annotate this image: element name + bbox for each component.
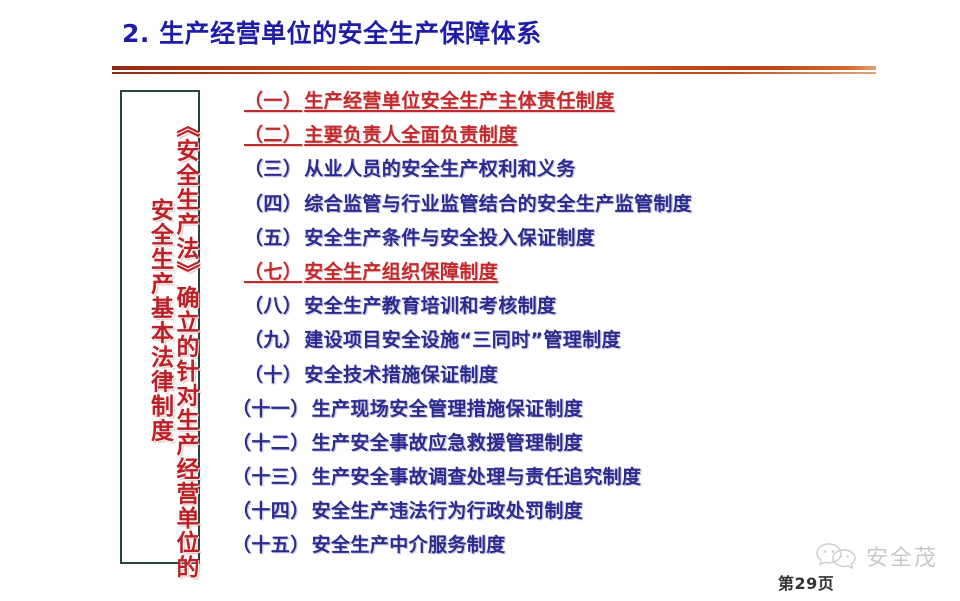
slide-canvas: 2. 生产经营单位的安全生产保障体系 《安全生产法》确立的针对生产经营单位的 安… (0, 0, 960, 601)
list-item[interactable]: （五）安全生产条件与安全投入保证制度 (232, 221, 872, 255)
list-item-number: （四） (244, 193, 302, 215)
list-item-number: （十二） (232, 432, 310, 454)
list-item[interactable]: （一）生产经营单位安全生产主体责任制度 (232, 84, 872, 118)
page-title: 2. 生产经营单位的安全生产保障体系 (122, 14, 542, 50)
list-item-label: 安全生产组织保障制度 (304, 261, 498, 283)
list-item[interactable]: （七）安全生产组织保障制度 (232, 255, 872, 289)
list-item[interactable]: （十五）安全生产中介服务制度 (232, 528, 872, 562)
list-item-number: （八） (244, 295, 302, 317)
vertical-label-line-2: 安全生产基本法律制度 (147, 198, 170, 443)
list-item[interactable]: （八）安全生产教育培训和考核制度 (232, 289, 872, 323)
list-item-label: 主要负责人全面负责制度 (304, 124, 517, 146)
list-item[interactable]: （十二）生产安全事故应急救援管理制度 (232, 426, 872, 460)
institution-list: （一）生产经营单位安全生产主体责任制度（二）主要负责人全面负责制度（三）从业人员… (232, 84, 872, 563)
list-item-number: （十五） (232, 534, 310, 556)
list-item-label: 安全生产教育培训和考核制度 (304, 295, 556, 317)
list-item[interactable]: （十四）安全生产违法行为行政处罚制度 (232, 494, 872, 528)
list-item-label: 生产经营单位安全生产主体责任制度 (304, 90, 614, 112)
vertical-label-line-1: 《安全生产法》确立的针对生产经营单位的 (173, 114, 196, 580)
list-item[interactable]: （十一）生产现场安全管理措施保证制度 (232, 392, 872, 426)
list-item-label: 综合监管与行业监管结合的安全生产监管制度 (304, 193, 692, 215)
list-item[interactable]: （二）主要负责人全面负责制度 (232, 118, 872, 152)
list-item-number: （十四） (232, 500, 310, 522)
list-item-label: 生产安全事故调查处理与责任追究制度 (312, 466, 642, 488)
list-item-label: 安全生产中介服务制度 (312, 534, 506, 556)
watermark-text: 安全茂 (866, 540, 938, 572)
vertical-label-box: 《安全生产法》确立的针对生产经营单位的 安全生产基本法律制度 (120, 90, 200, 564)
list-item[interactable]: （四）综合监管与行业监管结合的安全生产监管制度 (232, 187, 872, 221)
list-item-label: 安全生产违法行为行政处罚制度 (312, 500, 584, 522)
list-item-label: 生产现场安全管理措施保证制度 (312, 398, 584, 420)
list-item-label: 建设项目安全设施“三同时”管理制度 (304, 329, 621, 351)
list-item-number: （三） (244, 158, 302, 180)
page-number-badge: 第29页 (778, 570, 834, 594)
list-item-label: 安全生产条件与安全投入保证制度 (304, 227, 595, 249)
list-item-label: 安全技术措施保证制度 (304, 364, 498, 386)
list-item-number: （十） (244, 364, 302, 386)
list-item-label: 从业人员的安全生产权利和义务 (304, 158, 576, 180)
list-item-number: （七） (244, 261, 302, 283)
list-item[interactable]: （十）安全技术措施保证制度 (232, 358, 872, 392)
list-item-number: （五） (244, 227, 302, 249)
divider-thin-bar (112, 72, 876, 74)
list-item[interactable]: （三）从业人员的安全生产权利和义务 (232, 152, 872, 186)
list-item[interactable]: （十三）生产安全事故调查处理与责任追究制度 (232, 460, 872, 494)
watermark: 安全茂 (815, 540, 938, 572)
wechat-bubbles-icon (815, 541, 859, 571)
list-item-number: （九） (244, 329, 302, 351)
title-divider (112, 66, 876, 77)
list-item-number: （十一） (232, 398, 310, 420)
list-item-number: （二） (244, 124, 302, 146)
list-item[interactable]: （九）建设项目安全设施“三同时”管理制度 (232, 323, 872, 357)
list-item-number: （一） (244, 90, 302, 112)
list-item-label: 生产安全事故应急救援管理制度 (312, 432, 584, 454)
list-item-number: （十三） (232, 466, 310, 488)
